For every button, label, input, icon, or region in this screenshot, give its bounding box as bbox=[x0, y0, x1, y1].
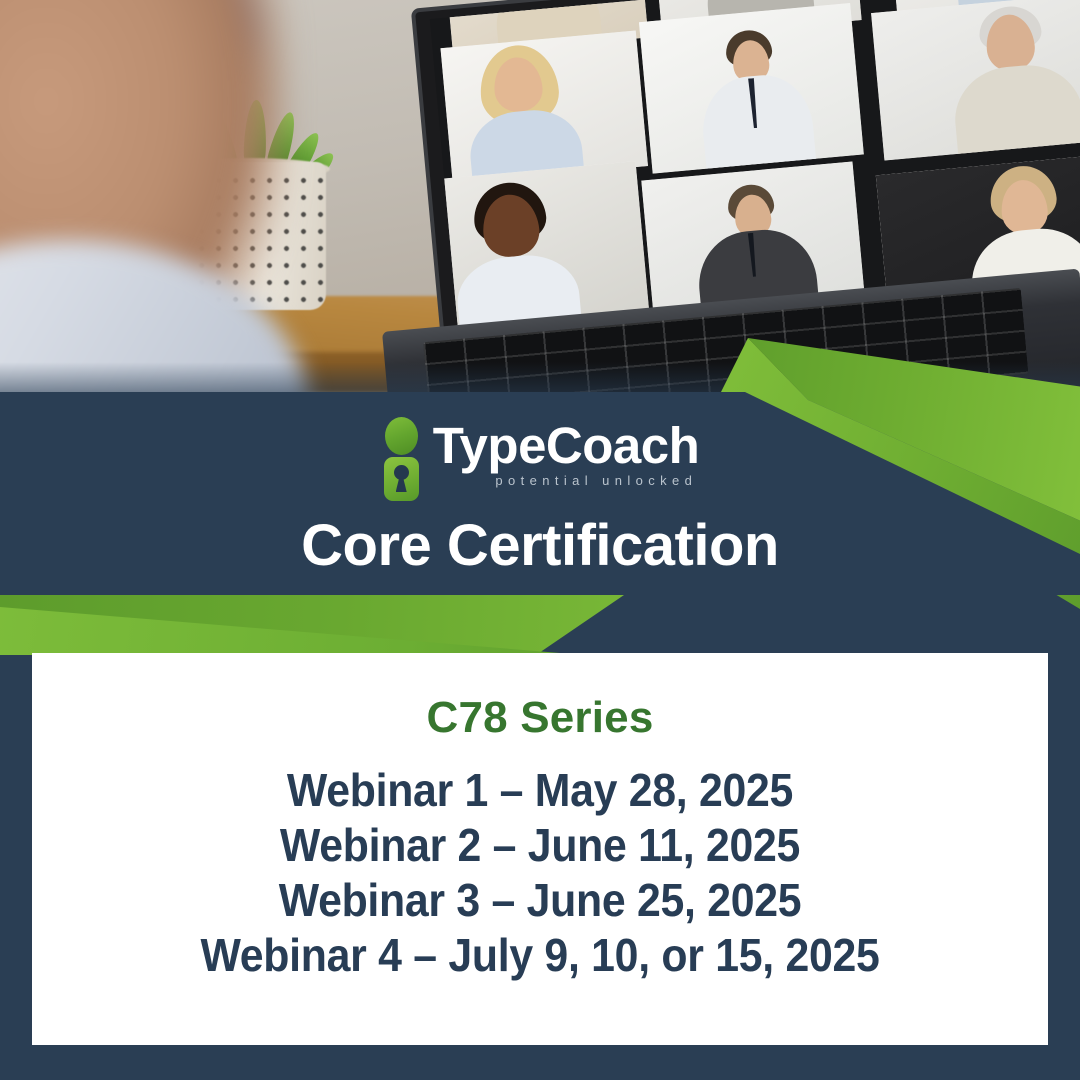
schedule-card: C78 Series Webinar 1 – May 28, 2025 Webi… bbox=[32, 653, 1048, 1045]
typecoach-logo: TypeCoach potential unlocked bbox=[0, 414, 1080, 494]
logo-tagline: potential unlocked bbox=[433, 473, 700, 488]
list-item: Webinar 4 – July 9, 10, or 15, 2025 bbox=[68, 928, 1013, 983]
logo-wordmark: TypeCoach potential unlocked bbox=[433, 420, 700, 488]
list-item: Webinar 3 – June 25, 2025 bbox=[68, 873, 1013, 928]
poster: TypeCoach potential unlocked Core Certif… bbox=[0, 0, 1080, 1080]
participant-tile bbox=[440, 161, 649, 328]
series-label: C78 Series bbox=[32, 693, 1048, 743]
participant-tile bbox=[639, 3, 864, 174]
participant-tile bbox=[440, 31, 648, 184]
participant-tile bbox=[871, 0, 1080, 161]
list-item: Webinar 2 – June 11, 2025 bbox=[68, 818, 1013, 873]
logo-word: TypeCoach bbox=[433, 420, 700, 471]
person-keyhole-icon bbox=[381, 417, 421, 491]
person-head-shape bbox=[385, 417, 418, 455]
page-title: Core Certification bbox=[0, 512, 1080, 579]
hero-photo bbox=[0, 0, 1080, 392]
list-item: Webinar 1 – May 28, 2025 bbox=[68, 763, 1013, 818]
webinar-date-list: Webinar 1 – May 28, 2025 Webinar 2 – Jun… bbox=[32, 763, 1048, 983]
